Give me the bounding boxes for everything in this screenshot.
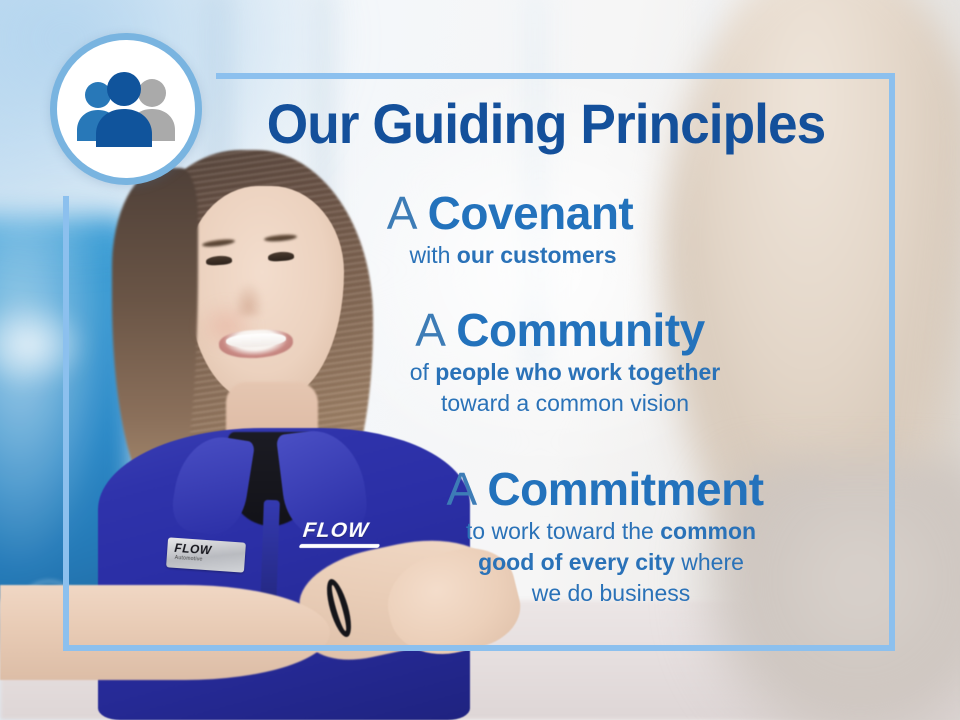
principle-commitment: A Commitment to work toward the common g… [0,462,960,609]
principle-subline: to work toward the common [0,516,960,547]
principle-article: A [446,463,474,515]
principle-subline: we do business [0,578,960,609]
principle-heading: A Commitment [0,462,960,516]
principle-subline: good of every city where [0,547,960,578]
subline-part: of [410,359,436,385]
subline-part: with [409,242,456,268]
principle-community: A Community of people who work together … [0,303,960,419]
principle-subline: of people who work together [0,357,960,388]
page-title: Our Guiding Principles [233,93,860,155]
frame-border-bottom [63,645,895,651]
principle-subline: toward a common vision [0,388,960,419]
principle-covenant: A Covenant with our customers [0,186,960,271]
principle-heading: A Community [0,303,960,357]
people-group-icon [72,70,180,148]
subline-part-bold: good of every city [478,549,675,575]
subline-part: we do business [532,580,691,606]
principle-subline: with our customers [0,240,960,271]
frame-border-top [216,73,895,79]
subline-part-bold: people who work together [435,359,720,385]
principle-article: A [387,187,415,239]
principle-keyword: Community [456,304,705,356]
principle-heading: A Covenant [0,186,960,240]
principle-keyword: Covenant [428,187,634,239]
people-group-icon-badge [50,33,202,185]
principle-article: A [415,304,443,356]
banner-image: FLOW FLOW Automotive Our Gu [0,0,960,720]
subline-part: toward a common vision [441,390,689,416]
subline-part-bold: common [660,518,756,544]
principle-keyword: Commitment [487,463,763,515]
subline-part: where [675,549,744,575]
subline-part: to work toward the [466,518,660,544]
subline-part-bold: our customers [457,242,617,268]
